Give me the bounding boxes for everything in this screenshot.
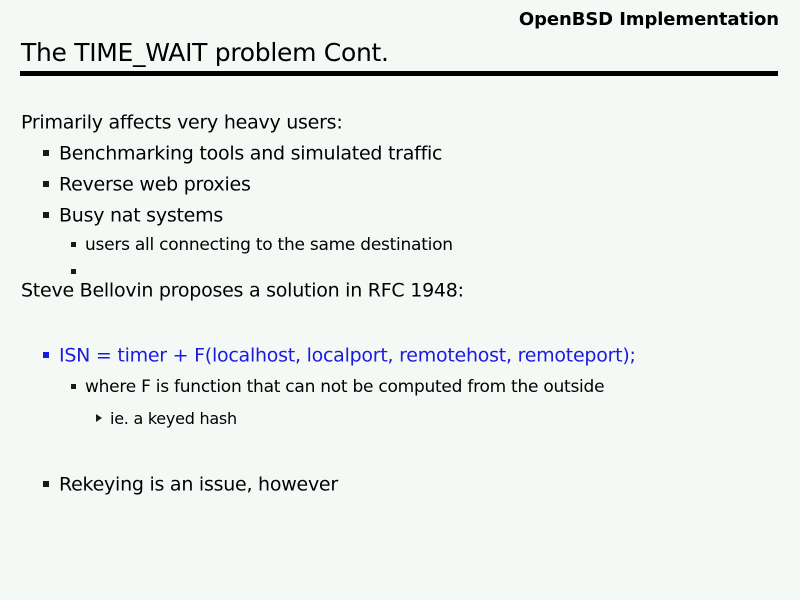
square-bullet-icon [43, 481, 49, 487]
square-bullet-icon [71, 269, 76, 274]
square-bullet-icon [43, 212, 49, 218]
square-bullet-icon [43, 352, 49, 358]
bullet-text: Rekeying is an issue, however [59, 474, 338, 496]
bullet-text: where F is function that can not be comp… [85, 377, 604, 397]
square-bullet-icon [71, 384, 76, 389]
bullet-text: Steve Bellovin proposes a solution in RF… [21, 280, 464, 302]
bullet-item: Busy nat systems [43, 204, 223, 227]
bullet-text: ie. a keyed hash [110, 409, 237, 428]
square-bullet-icon [43, 181, 49, 187]
bullet-item: Reverse web proxies [43, 173, 251, 196]
bullet-text: users all connecting to the same destina… [85, 235, 453, 255]
bullet-text: Reverse web proxies [59, 174, 251, 196]
bullet-item: Rekeying is an issue, however [43, 473, 338, 496]
bullet-item: ie. a keyed hash [96, 408, 237, 428]
bullet-item: Benchmarking tools and simulated traffic [43, 142, 442, 165]
bullet-text: ISN = timer + F(localhost, localport, re… [59, 345, 636, 367]
slide-header-right: OpenBSD Implementation [0, 9, 779, 30]
square-bullet-icon [71, 242, 76, 247]
bullet-item: users all connecting to the same destina… [71, 235, 453, 255]
bullet-text: Benchmarking tools and simulated traffic [59, 143, 442, 165]
page-title: The TIME_WAIT problem Cont. [21, 38, 389, 67]
triangle-bullet-icon [96, 414, 102, 422]
slide-canvas: OpenBSD Implementation The TIME_WAIT pro… [0, 0, 800, 600]
bullet-text: Primarily affects very heavy users: [21, 112, 343, 134]
title-divider [20, 71, 778, 76]
bullet-item: ISN = timer + F(localhost, localport, re… [43, 344, 636, 367]
body-paragraph: Steve Bellovin proposes a solution in RF… [21, 279, 464, 302]
bullet-item: where F is function that can not be comp… [71, 377, 604, 397]
bullet-text: Busy nat systems [59, 205, 223, 227]
square-bullet-icon [43, 150, 49, 156]
body-paragraph: Primarily affects very heavy users: [21, 111, 343, 134]
